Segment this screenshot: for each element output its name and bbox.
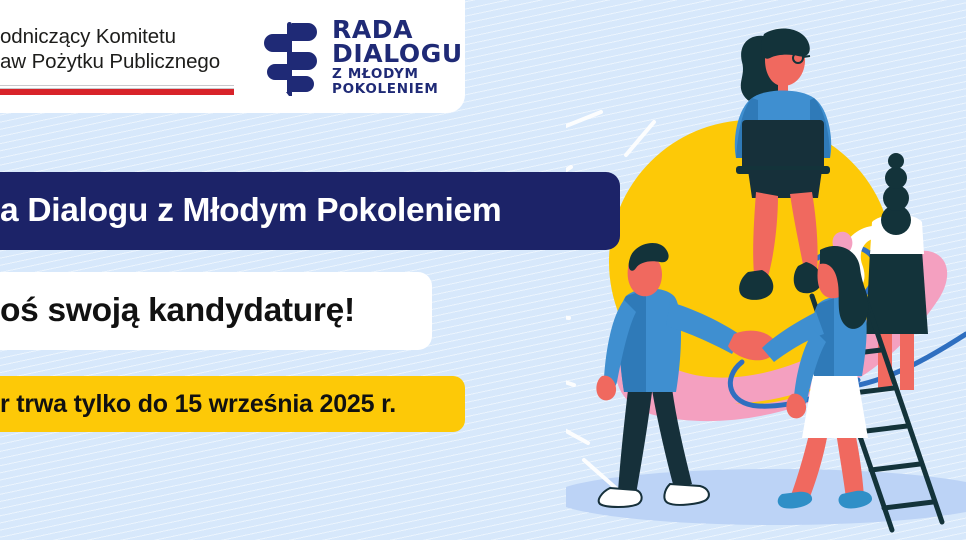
deadline-banner: r trwa tylko do 15 września 2025 r. [0, 376, 465, 432]
plant-speech-bubble-icon [262, 18, 320, 96]
man-shoe-front [664, 484, 709, 505]
header-inner: odniczący Komitetu aw Pożytku Publiczneg… [0, 0, 465, 113]
header-card: odniczący Komitetu aw Pożytku Publiczneg… [0, 0, 465, 113]
logo-line-z-mlodym: Z MŁODYM [332, 68, 463, 82]
cta-banner: oś swoją kandydaturę! [0, 272, 432, 350]
man-shoe-back [599, 488, 642, 507]
logo-line-rada: RADA [332, 17, 463, 42]
title-banner: a Dialogu z Młodym Pokoleniem [0, 172, 620, 250]
logo-line-pokoleniem: POKOLENIEM [332, 83, 463, 97]
rada-dialogu-logo-text: RADA DIALOGU Z MŁODYM POKOLENIEM [332, 17, 463, 97]
poster-root: odniczący Komitetu aw Pożytku Publiczneg… [0, 0, 966, 540]
logo-line-dialogu: DIALOGU [332, 41, 463, 66]
polish-flag-bar [0, 85, 234, 95]
flag-red-stripe [0, 89, 234, 95]
kpp-line-2: aw Pożytku Publicznego [0, 49, 234, 74]
kpp-line-1: odniczący Komitetu [0, 24, 234, 49]
kpp-institution-block: odniczący Komitetu aw Pożytku Publiczneg… [0, 18, 234, 95]
rada-dialogu-logo: RADA DIALOGU Z MŁODYM POKOLENIEM [262, 17, 463, 97]
lightbulb-teamwork-illustration [566, 0, 966, 540]
laptop [742, 120, 824, 170]
ladder-person-leg-right [900, 328, 914, 390]
ladder-person-hair [881, 153, 911, 235]
